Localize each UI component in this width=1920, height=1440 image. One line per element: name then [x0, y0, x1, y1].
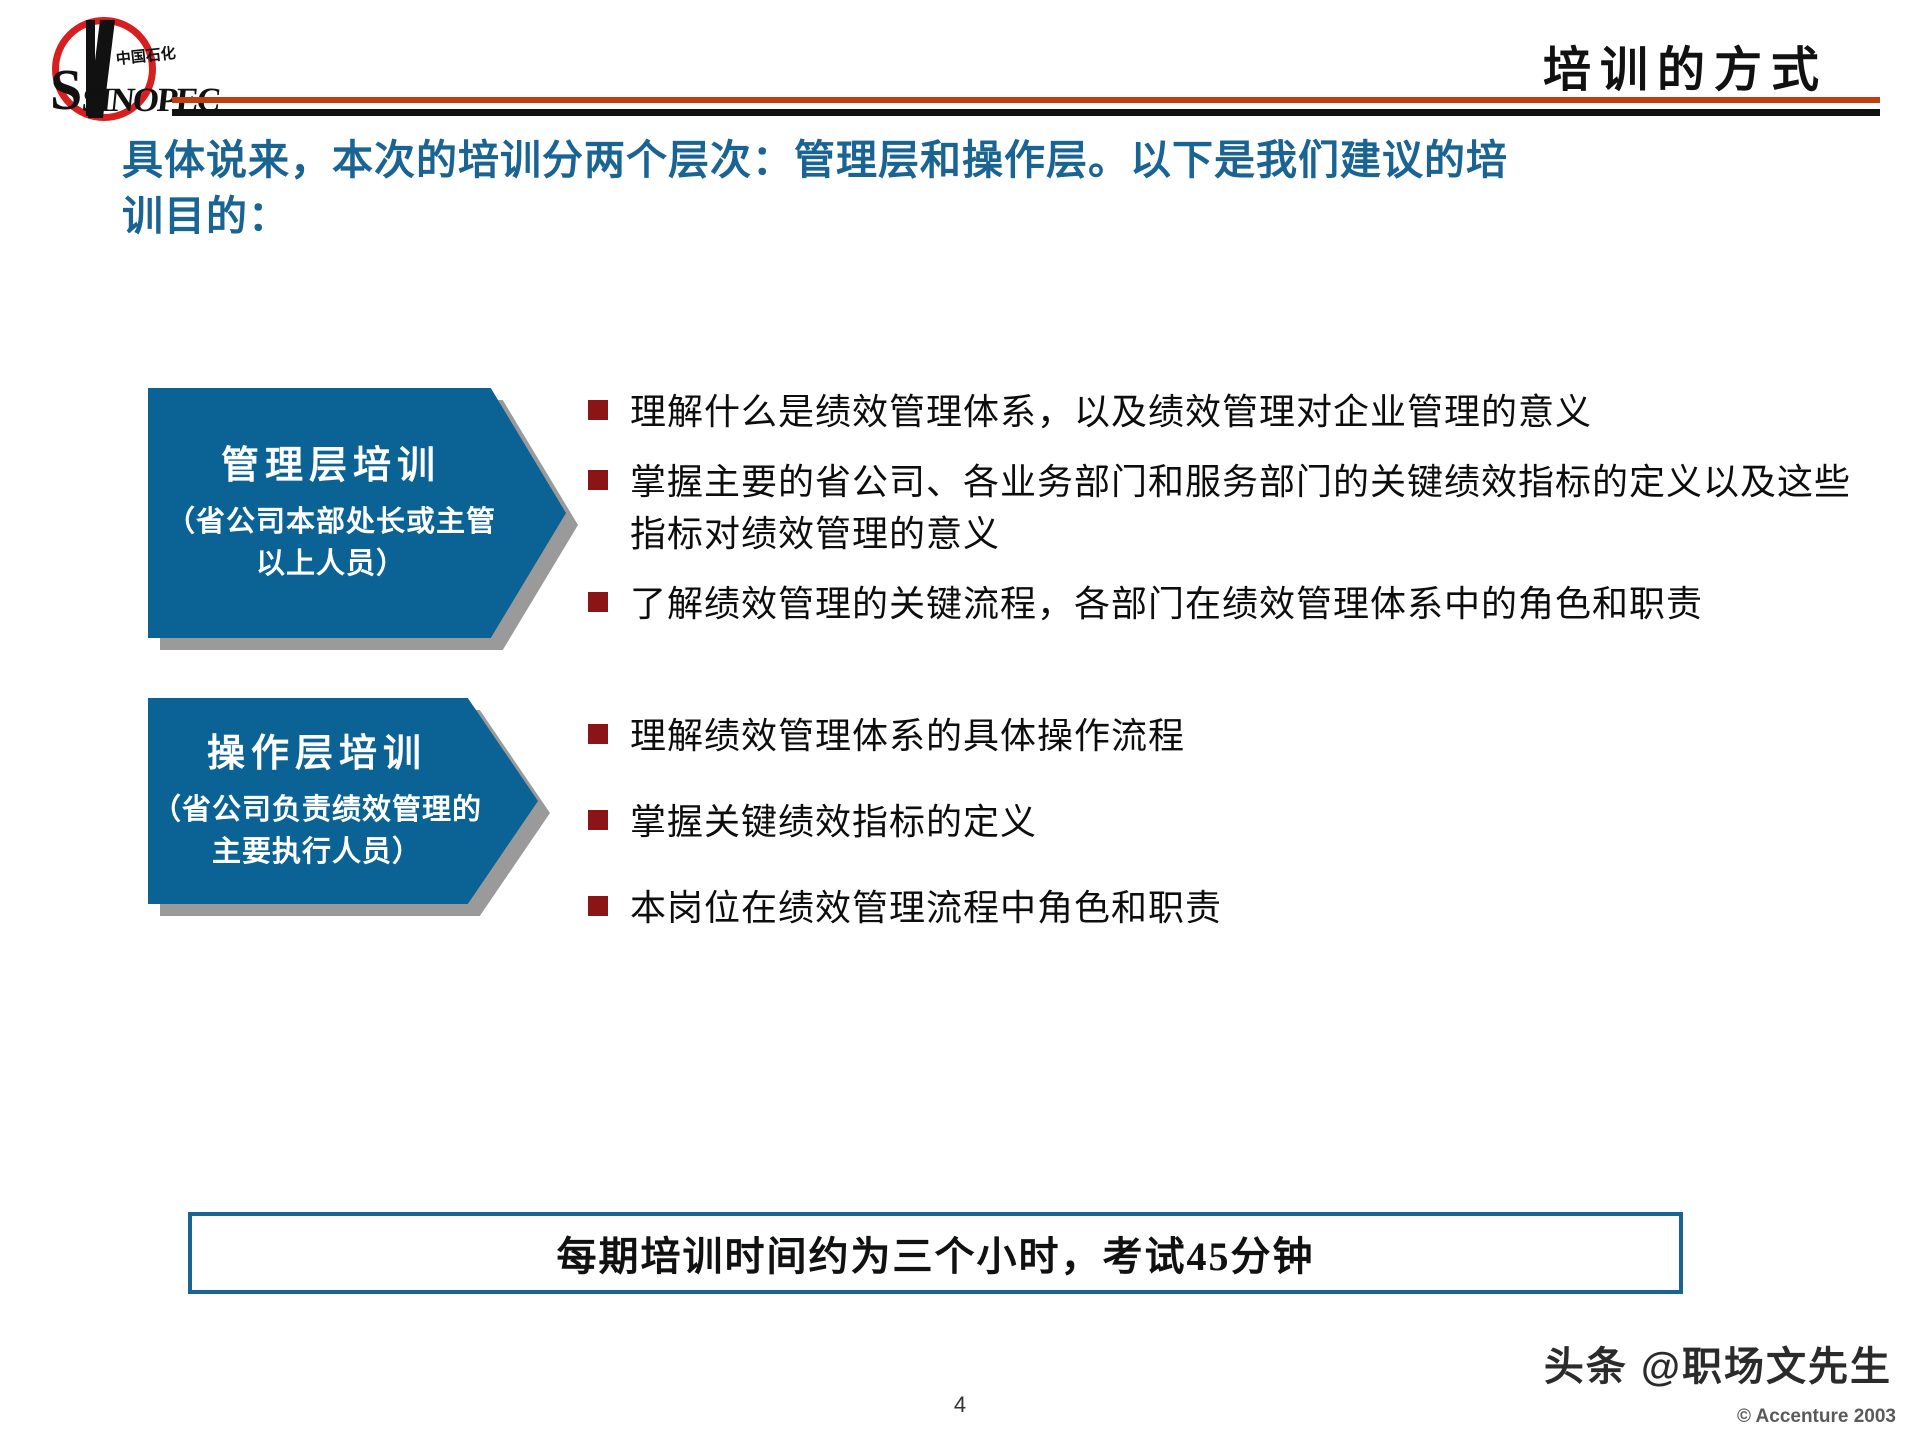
page-number: 4 [0, 1392, 1920, 1418]
bullet-square-icon [588, 724, 608, 744]
arrow-title-management: 管理层培训 [221, 441, 493, 491]
arrow-operations-training: 操作层培训 （省公司负责绩效管理的主要执行人员） [148, 698, 538, 904]
list-item: 掌握主要的省公司、各业务部门和服务部门的关键绩效指标的定义以及这些指标对绩效管理… [588, 456, 1858, 560]
arrow-subtitle-management: （省公司本部处长或主管以上人员） [166, 501, 548, 585]
header-rule-orange [172, 97, 1880, 103]
arrow-subtitle-operations: （省公司负责绩效管理的主要执行人员） [152, 789, 534, 873]
bullet-square-icon [588, 810, 608, 830]
bullet-square-icon [588, 896, 608, 916]
list-item-text: 理解绩效管理体系的具体操作流程 [630, 710, 1185, 762]
bullet-square-icon [588, 470, 608, 490]
list-item: 了解绩效管理的关键流程，各部门在绩效管理体系中的角色和职责 [588, 578, 1858, 630]
arrow-management-training: 管理层培训 （省公司本部处长或主管以上人员） [148, 388, 566, 638]
list-item-text: 掌握主要的省公司、各业务部门和服务部门的关键绩效指标的定义以及这些指标对绩效管理… [630, 456, 1858, 560]
sinopec-logo: S SINOPEC 中国石化 [42, 12, 172, 124]
list-item: 理解什么是绩效管理体系，以及绩效管理对企业管理的意义 [588, 386, 1858, 438]
list-item-text: 本岗位在绩效管理流程中角色和职责 [630, 882, 1222, 934]
page-title: 培训的方式 [1543, 30, 1828, 100]
watermark-label: 头条 @职场文先生 [1544, 1334, 1892, 1392]
list-item-text: 理解什么是绩效管理体系，以及绩效管理对企业管理的意义 [630, 386, 1592, 438]
list-item-text: 掌握关键绩效指标的定义 [630, 796, 1037, 848]
list-item: 理解绩效管理体系的具体操作流程 [588, 710, 1858, 762]
bullet-square-icon [588, 592, 608, 612]
summary-callout-text: 每期培训时间约为三个小时，考试45分钟 [557, 1224, 1315, 1282]
copyright-notice: © Accenture 2003 [1737, 1406, 1896, 1428]
list-item: 本岗位在绩效管理流程中角色和职责 [588, 882, 1858, 934]
bullet-square-icon [588, 400, 608, 420]
bullet-list-management: 理解什么是绩效管理体系，以及绩效管理对企业管理的意义 掌握主要的省公司、各业务部… [588, 386, 1858, 648]
summary-callout-box: 每期培训时间约为三个小时，考试45分钟 [188, 1212, 1683, 1294]
arrow-title-operations: 操作层培训 [207, 729, 479, 779]
list-item: 掌握关键绩效指标的定义 [588, 796, 1858, 848]
list-item-text: 了解绩效管理的关键流程，各部门在绩效管理体系中的角色和职责 [630, 578, 1703, 630]
intro-paragraph: 具体说来，本次的培训分两个层次：管理层和操作层。以下是我们建议的培训目的： [122, 132, 1542, 244]
header-rule-black [172, 109, 1880, 116]
bullet-list-operations: 理解绩效管理体系的具体操作流程 掌握关键绩效指标的定义 本岗位在绩效管理流程中角… [588, 710, 1858, 968]
slide-header: S SINOPEC 中国石化 培训的方式 [0, 0, 1920, 135]
